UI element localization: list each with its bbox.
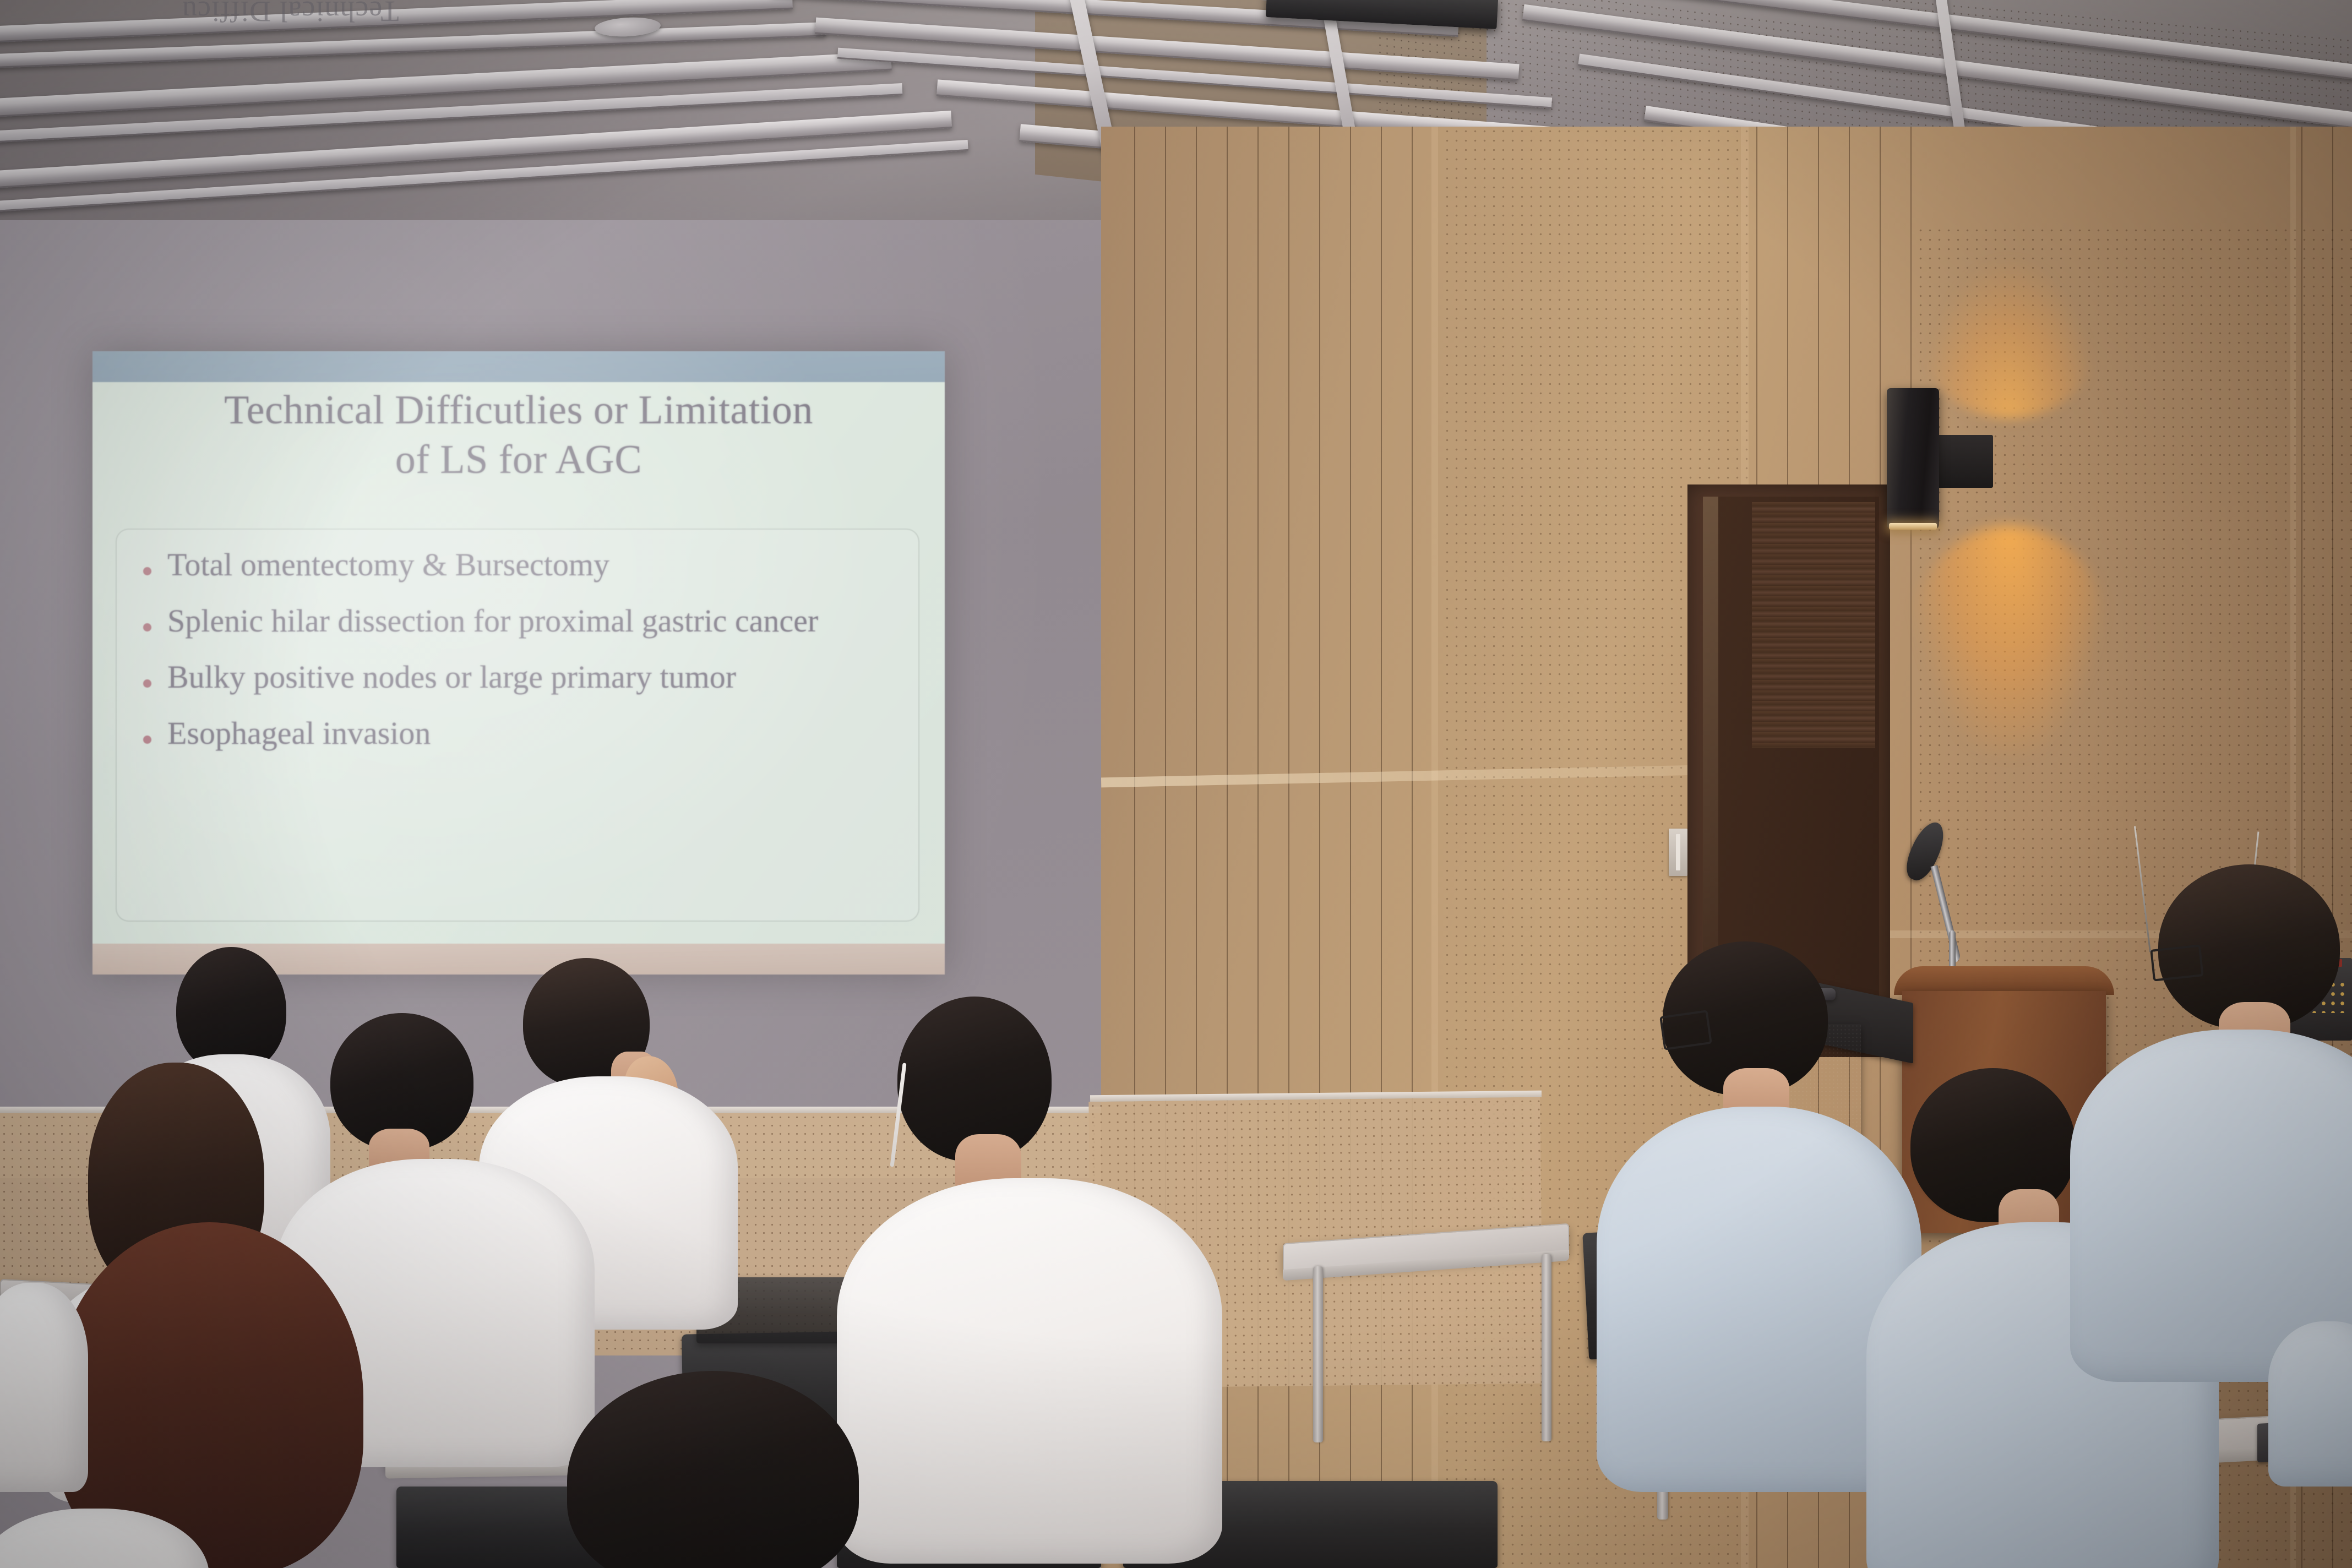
sconce-downlight-glow	[1910, 526, 2109, 757]
door-panel	[1752, 502, 1875, 748]
eyeglasses-icon	[1659, 1010, 1712, 1050]
slide-bullet-1: Total omentectomy & Bursectomy	[137, 546, 903, 584]
slide-title-line-2: of LS for AGC	[144, 435, 894, 484]
slide-bullet-2: Splenic hilar dissection for proximal ga…	[137, 602, 903, 640]
ceiling-slide-reflection: Technical Difficu	[182, 0, 399, 29]
slide: Technical Difficutlies or Limitation of …	[92, 351, 945, 974]
slide-title: Technical Difficutlies or Limitation of …	[144, 385, 894, 485]
slide-header-band	[92, 351, 945, 382]
slide-bullet-4: Esophageal invasion	[137, 715, 903, 752]
sconce-lens	[1889, 523, 1937, 530]
light-switch-icon[interactable]	[1669, 829, 1687, 876]
sconce-uplight-glow	[1921, 259, 2098, 418]
slide-bullet-3: Bulky positive nodes or large primary tu…	[137, 658, 903, 696]
table-leg	[1542, 1254, 1551, 1441]
slide-title-line-1: Technical Difficutlies or Limitation	[144, 385, 894, 435]
projection-screen: Technical Difficutlies or Limitation of …	[92, 351, 945, 974]
eyeglasses-icon	[2150, 944, 2204, 981]
slide-content-box: Total omentectomy & Bursectomy Splenic h…	[116, 529, 919, 922]
slide-bullet-list: Total omentectomy & Bursectomy Splenic h…	[117, 530, 918, 752]
table-leg	[1313, 1266, 1323, 1442]
conference-room-photo: Technical Difficu Technical Difficutlies…	[0, 0, 2352, 1568]
wall-sconce-icon	[1887, 388, 1939, 529]
